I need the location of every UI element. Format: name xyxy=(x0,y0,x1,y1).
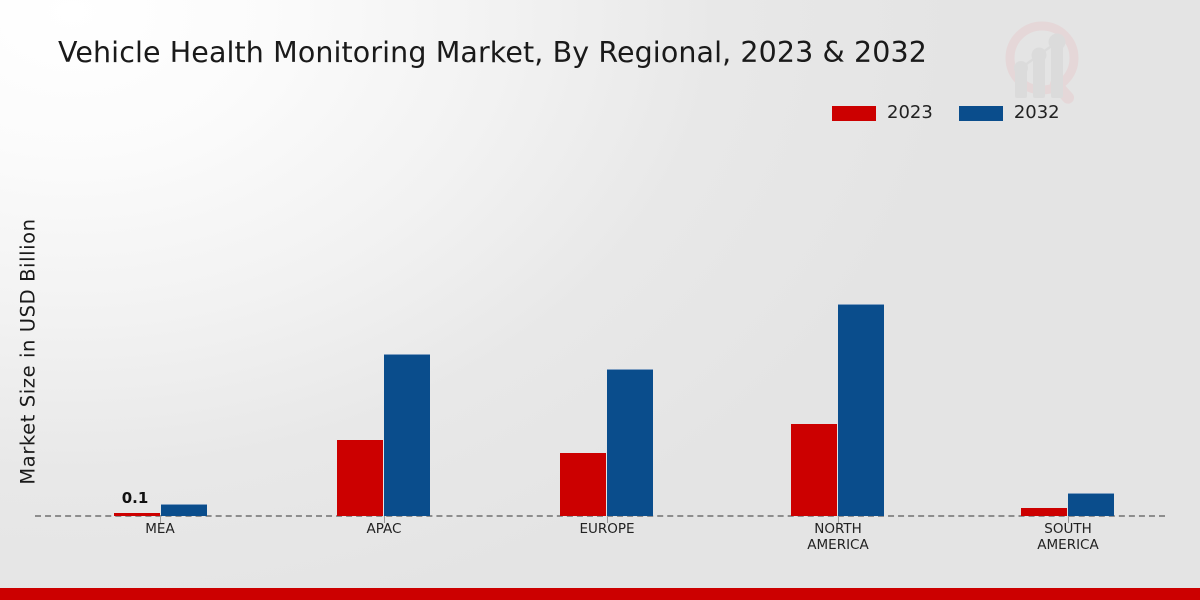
bar-europe-2032[interactable] xyxy=(607,369,653,516)
category-label-mea-line1: MEA xyxy=(70,521,250,537)
chart-canvas: Vehicle Health Monitoring Market, By Reg… xyxy=(0,0,1200,600)
bar-south-america-2032[interactable] xyxy=(1068,493,1114,516)
category-label-apac: APAC xyxy=(294,521,474,537)
bar-north-america-2032[interactable] xyxy=(838,304,884,516)
plot-area: 0.1 MEA APAC EUROPE NORTH AMERICA xyxy=(0,0,1200,600)
category-label-europe-line1: EUROPE xyxy=(517,521,697,537)
category-label-north-america: NORTH AMERICA xyxy=(748,521,928,553)
bar-north-america-2023[interactable] xyxy=(791,424,837,516)
bar-mea-2023[interactable] xyxy=(114,513,160,516)
category-label-europe: EUROPE xyxy=(517,521,697,537)
category-label-mea: MEA xyxy=(70,521,250,537)
category-label-south-america-line1: SOUTH xyxy=(978,521,1158,537)
bar-apac-2032[interactable] xyxy=(384,354,430,516)
bar-mea-2032[interactable] xyxy=(161,504,207,516)
category-label-north-america-line2: AMERICA xyxy=(748,537,928,553)
bar-apac-2023[interactable] xyxy=(337,440,383,516)
category-label-south-america-line2: AMERICA xyxy=(978,537,1158,553)
category-label-apac-line1: APAC xyxy=(294,521,474,537)
category-label-south-america: SOUTH AMERICA xyxy=(978,521,1158,553)
footer-accent-bar xyxy=(0,588,1200,600)
bar-europe-2023[interactable] xyxy=(560,453,606,516)
data-label-mea-2023: 0.1 xyxy=(105,489,165,507)
bar-south-america-2023[interactable] xyxy=(1021,508,1067,516)
category-label-north-america-line1: NORTH xyxy=(748,521,928,537)
